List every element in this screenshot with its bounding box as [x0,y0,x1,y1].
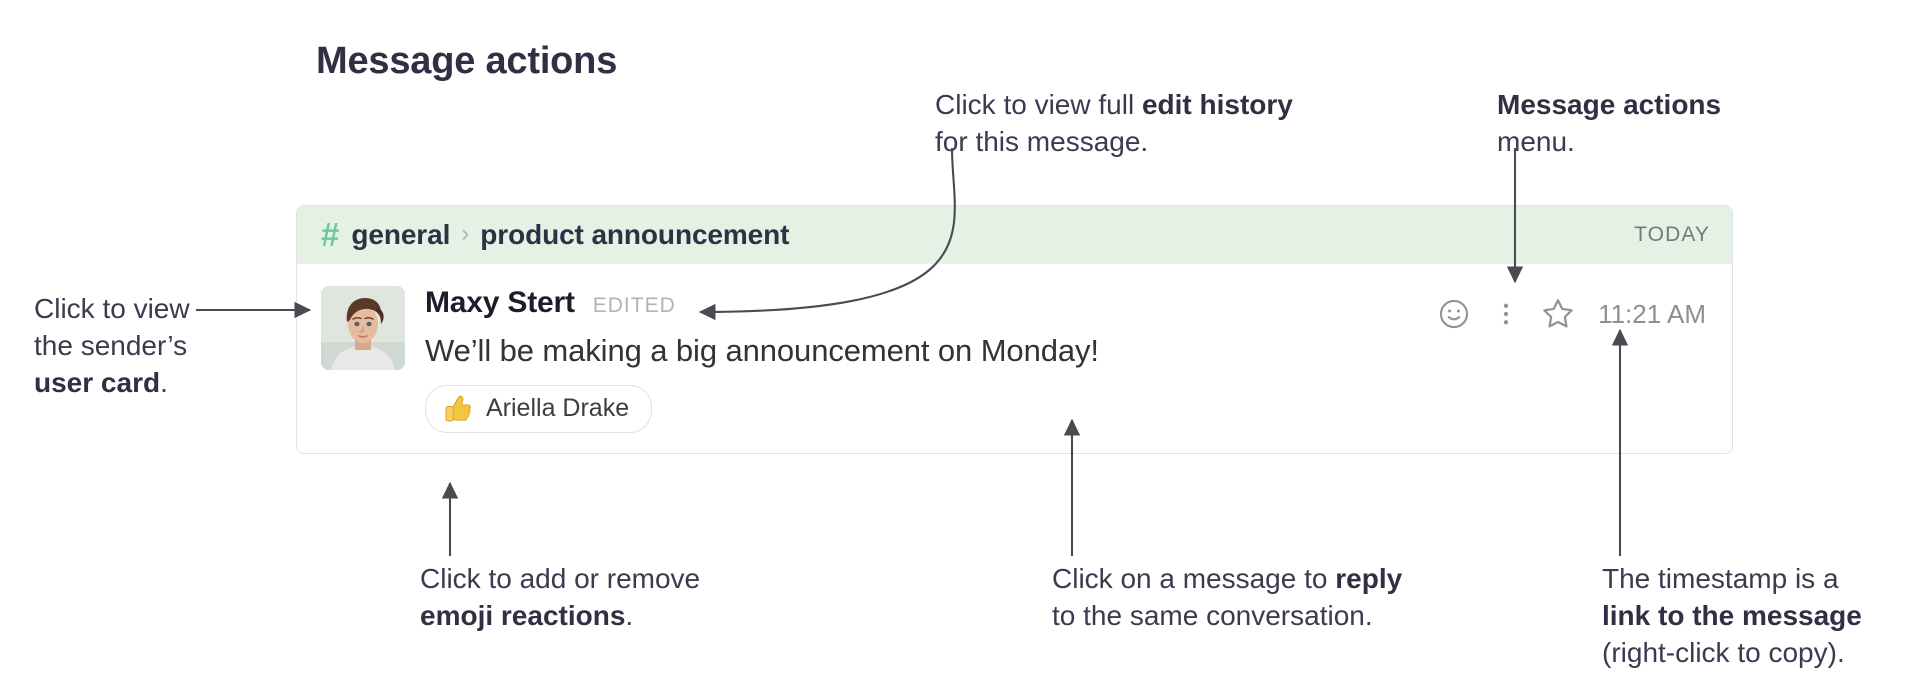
callout-timestamp-line2: link to the message [1602,597,1862,634]
avatar[interactable] [321,286,405,370]
message-timestamp-link[interactable]: 11:21 AM [1598,299,1706,330]
sender-name[interactable]: Maxy Stert [425,286,575,320]
callout-emphasis: Message actions [1497,89,1721,120]
callout-edit-history-line2: for this message. [935,123,1293,160]
stream-name-link[interactable]: general [351,219,450,251]
callout-reply-line1: Click on a message to reply [1052,560,1402,597]
callout-text: Click to view full [935,89,1142,120]
callout-emoji-line1: Click to add or remove [420,560,700,597]
thumbs-up-icon [442,393,474,425]
edited-label[interactable]: EDITED [593,294,676,318]
message-actions-menu-icon[interactable] [1480,294,1532,334]
message-card: # general › product announcement TODAY [296,205,1733,454]
recipient-bar: # general › product announcement TODAY [297,206,1732,264]
callout-actions-menu-line2: menu. [1497,123,1721,160]
callout-user-card-line3: user card. [34,364,190,401]
callout-user-card: Click to view the sender’s user card. [34,290,190,402]
callout-emphasis: reply [1335,563,1402,594]
message-content[interactable]: We’ll be making a big announcement on Mo… [425,332,1710,371]
emoji-reaction-icon[interactable] [1428,294,1480,334]
message-actions-group: 11:21 AM [1428,294,1706,334]
date-label: TODAY [1634,223,1710,247]
callout-emphasis: link to the message [1602,600,1862,631]
callout-edit-history: Click to view full edit history for this… [935,86,1293,160]
callout-user-card-line2: the sender’s [34,327,190,364]
callout-reply: Click on a message to reply to the same … [1052,560,1402,634]
callout-text: . [160,367,168,398]
reaction-row: Ariella Drake [425,385,1710,433]
message-row[interactable]: Maxy Stert EDITED We’ll be making a big … [297,264,1732,453]
callout-timestamp-line1: The timestamp is a [1602,560,1862,597]
callout-actions-menu: Message actions menu. [1497,86,1721,160]
callout-emphasis: edit history [1142,89,1293,120]
reaction-user-name: Ariella Drake [486,394,629,423]
annotated-screenshot-figure: Message actions Click to view full edit … [0,0,1924,696]
callout-timestamp-link: The timestamp is a link to the message (… [1602,560,1862,672]
star-message-icon[interactable] [1532,294,1584,334]
hash-icon: # [321,218,339,251]
callout-actions-menu-line1: Message actions [1497,86,1721,123]
page-title: Message actions [316,40,617,83]
reaction-pill-thumbs-up[interactable]: Ariella Drake [425,385,652,433]
callout-reply-line2: to the same conversation. [1052,597,1402,634]
callout-emphasis: emoji reactions [420,600,625,631]
callout-text: Click on a message to [1052,563,1335,594]
callout-user-card-line1: Click to view [34,290,190,327]
callout-emoji-line2: emoji reactions. [420,597,700,634]
callout-text: . [625,600,633,631]
callout-emphasis: user card [34,367,160,398]
callout-timestamp-line3: (right-click to copy). [1602,634,1862,671]
chevron-right-icon: › [461,220,469,248]
callout-emoji-reactions: Click to add or remove emoji reactions. [420,560,700,634]
callout-edit-history-line1: Click to view full edit history [935,86,1293,123]
topic-name-link[interactable]: product announcement [480,219,789,251]
